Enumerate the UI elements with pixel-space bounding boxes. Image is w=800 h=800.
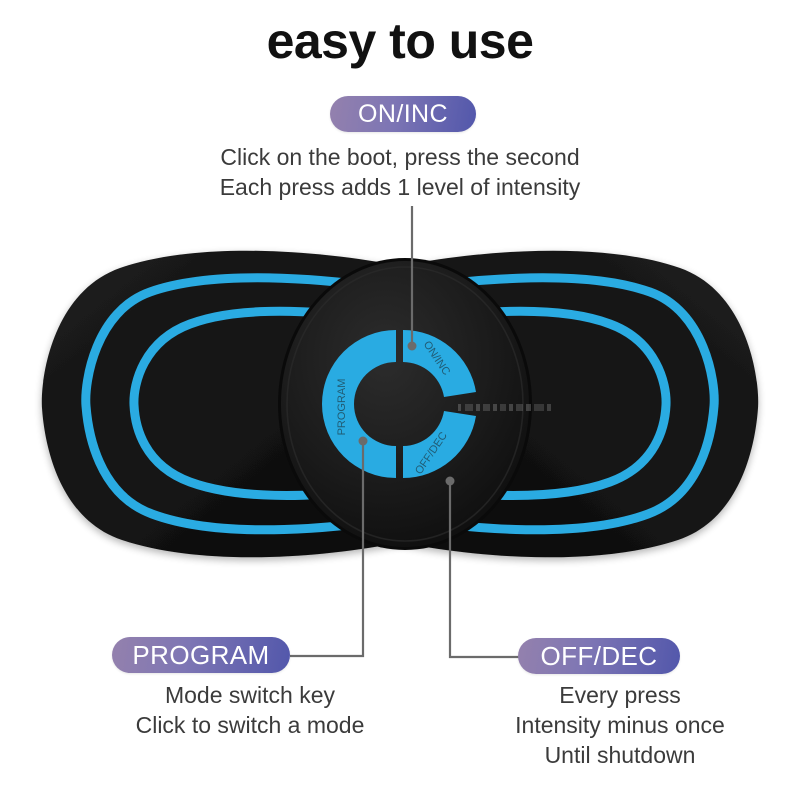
caption-off-dec-line-3: Until shutdown [425, 740, 800, 770]
caption-program: Mode switch key Click to switch a mode [40, 680, 460, 740]
badge-program[interactable]: PROGRAM [112, 637, 290, 673]
caption-off-dec: Every press Intensity minus once Until s… [425, 680, 800, 770]
caption-off-dec-line-2: Intensity minus once [425, 710, 800, 740]
hub-button-program-label: PROGRAM [336, 379, 348, 436]
caption-on-inc-line-2: Each press adds 1 level of intensity [0, 172, 800, 202]
caption-off-dec-line-1: Every press [425, 680, 800, 710]
badge-off-dec[interactable]: OFF/DEC [518, 638, 680, 674]
caption-on-inc-line-1: Click on the boot, press the second [0, 142, 800, 172]
caption-on-inc: Click on the boot, press the second Each… [0, 142, 800, 202]
hub-engraved-marking [458, 404, 551, 411]
badge-on-inc[interactable]: ON/INC [330, 96, 476, 132]
caption-program-line-2: Click to switch a mode [40, 710, 460, 740]
infographic-page: easy to use [0, 0, 800, 800]
caption-program-line-1: Mode switch key [40, 680, 460, 710]
